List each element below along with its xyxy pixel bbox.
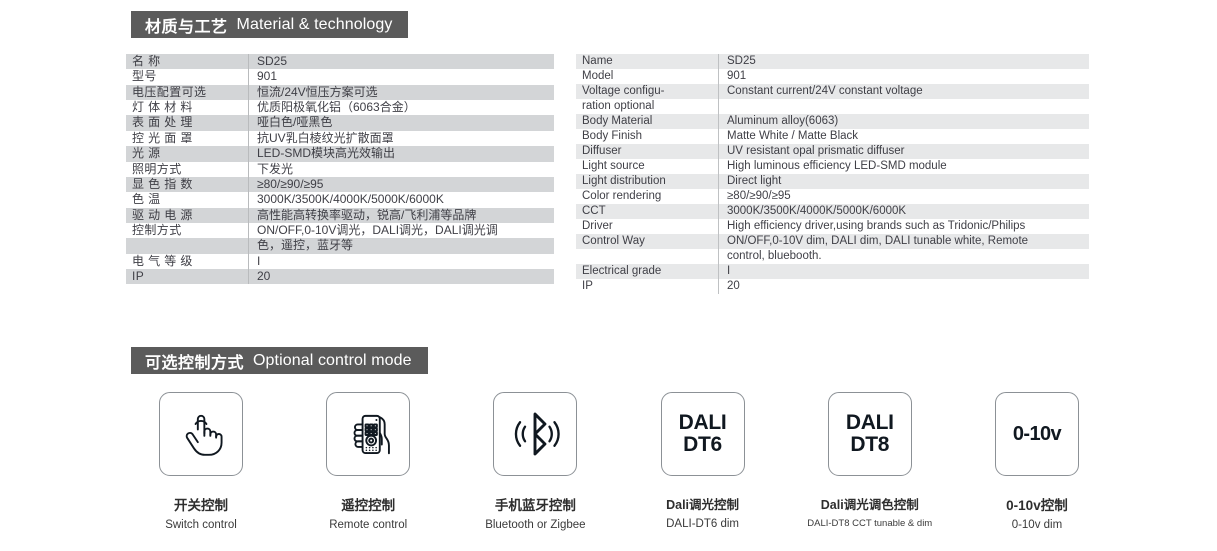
spec-value-cn: 优质阳极氧化铝（6063合金） [249,100,555,115]
table-row: 灯 体 材 料优质阳极氧化铝（6063合金） [126,100,554,115]
control-mode-icon-box[interactable] [159,392,243,476]
spec-key-cn [126,238,249,253]
spec-value-en [719,99,1090,114]
table-row: Model901 [576,69,1089,84]
section-header-material: 材质与工艺 Material & technology [131,11,408,38]
spec-value-cn: ON/OFF,0-10V调光，DALI调光，DALI调光调 [249,223,555,238]
spec-value-cn: SD25 [249,54,555,69]
spec-value-en: Aluminum alloy(6063) [719,114,1090,129]
spec-key-cn: 灯 体 材 料 [126,100,249,115]
table-row: 表 面 处 理哑白色/哑黑色 [126,115,554,130]
table-row: IP20 [576,279,1089,294]
control-mode-icon-box[interactable] [493,392,577,476]
section-header-control-mode: 可选控制方式 Optional control mode [131,347,428,374]
spec-value-en: ON/OFF,0-10V dim, DALI dim, DALI tunable… [719,234,1090,249]
spec-key-cn: 名 称 [126,54,249,69]
table-row: Body FinishMatte White / Matte Black [576,129,1089,144]
spec-key-en: Body Finish [576,129,719,144]
table-row: 电 气 等 级I [126,254,554,269]
spec-value-en: Direct light [719,174,1090,189]
control-mode-label-cn: Dali调光控制 [666,494,739,513]
section-header-material-title-en: Material & technology [237,16,393,34]
spec-key-cn: 型号 [126,69,249,84]
spec-value-cn: 20 [249,269,555,284]
spec-key-cn: 表 面 处 理 [126,115,249,130]
control-mode-label-cn: 0-10v控制 [1006,494,1068,514]
spec-key-cn: 驱 动 电 源 [126,208,249,223]
table-row: DiffuserUV resistant opal prismatic diff… [576,144,1089,159]
table-row: IP20 [126,269,554,284]
table-row: 型号901 [126,69,554,84]
table-row: Body MaterialAluminum alloy(6063) [576,114,1089,129]
icon-text-line-2: DT6 [679,434,727,456]
spec-key-en: Body Material [576,114,719,129]
table-row: Color rendering≥80/≥90/≥95 [576,189,1089,204]
icon-text-line-2: DT8 [846,434,894,456]
spec-key-cn: IP [126,269,249,284]
spec-key-en: IP [576,279,719,294]
spec-key-cn: 控 光 面 罩 [126,131,249,146]
spec-table-chinese: 名 称SD25型号901电压配置可选恒流/24V恒压方案可选灯 体 材 料优质阳… [126,54,554,284]
control-mode-card[interactable]: 手机蓝牙控制Bluetooth or Zigbee [460,392,610,531]
table-row: Control WayON/OFF,0-10V dim, DALI dim, D… [576,234,1089,249]
spec-value-en: control, bluebooth. [719,249,1090,264]
table-row: 照明方式下发光 [126,162,554,177]
table-row: 色 温3000K/3500K/4000K/5000K/6000K [126,192,554,207]
zero-to-ten-volt-text-icon: 0-10v [1013,424,1061,445]
control-mode-label-cn: Dali调光调色控制 [821,494,919,513]
table-row: 控 光 面 罩抗UV乳白棱纹光扩散面罩 [126,131,554,146]
spec-key-en [576,249,719,264]
spec-key-cn: 光 源 [126,146,249,161]
section-header-control-mode-title-cn: 可选控制方式 [145,349,244,373]
table-row: 电压配置可选恒流/24V恒压方案可选 [126,85,554,100]
spec-key-en: ration optional [576,99,719,114]
spec-value-en: High efficiency driver,using brands such… [719,219,1090,234]
control-mode-icon-box[interactable]: DALIDT6 [661,392,745,476]
spec-value-en: UV resistant opal prismatic diffuser [719,144,1090,159]
spec-table-chinese-body: 名 称SD25型号901电压配置可选恒流/24V恒压方案可选灯 体 材 料优质阳… [126,54,554,284]
table-row: 驱 动 电 源高性能高转换率驱动，锐高/飞利浦等品牌 [126,208,554,223]
table-row: Light sourceHigh luminous efficiency LED… [576,159,1089,174]
spec-value-cn: 901 [249,69,555,84]
spec-value-cn: ≥80/≥90/≥95 [249,177,555,192]
spec-value-cn: 3000K/3500K/4000K/5000K/6000K [249,192,555,207]
spec-key-en: Light source [576,159,719,174]
spec-key-cn: 显 色 指 数 [126,177,249,192]
bluetooth-signal-icon [506,405,564,463]
spec-value-en: I [719,264,1090,279]
spec-value-en: 20 [719,279,1090,294]
hand-tap-icon [172,405,230,463]
spec-value-cn: 哑白色/哑黑色 [249,115,555,130]
control-mode-label-en: 0-10v dim [1012,519,1063,531]
icon-text-line-1: DALI [846,412,894,434]
table-row: 光 源LED-SMD模块高光效输出 [126,146,554,161]
spec-key-cn: 电 气 等 级 [126,254,249,269]
control-mode-label-en: DALI-DT8 CCT tunable & dim [807,518,932,529]
spec-key-en: Diffuser [576,144,719,159]
section-header-material-title-cn: 材质与工艺 [145,13,228,37]
spec-value-cn: 恒流/24V恒压方案可选 [249,85,555,100]
control-mode-list: 开关控制Switch control遥控控制Remote control手机蓝牙… [126,392,1112,531]
spec-value-en: 3000K/3500K/4000K/5000K/6000K [719,204,1090,219]
spec-key-en: CCT [576,204,719,219]
table-row: 控制方式ON/OFF,0-10V调光，DALI调光，DALI调光调 [126,223,554,238]
spec-value-cn: I [249,254,555,269]
control-mode-label-cn: 开关控制 [174,494,228,514]
control-mode-icon-box[interactable] [326,392,410,476]
spec-table-english-body: NameSD25Model901Voltage configu-Constant… [576,54,1089,294]
spec-key-cn: 电压配置可选 [126,85,249,100]
control-mode-label-cn: 遥控控制 [341,494,395,514]
control-mode-card[interactable]: 遥控控制Remote control [293,392,443,531]
control-mode-card[interactable]: 0-10v0-10v控制0-10v dim [962,392,1112,531]
table-row: 名 称SD25 [126,54,554,69]
table-row: Electrical gradeI [576,264,1089,279]
section-header-control-mode-title-en: Optional control mode [253,352,412,370]
spec-value-en: High luminous efficiency LED-SMD module [719,159,1090,174]
spec-key-en: Model [576,69,719,84]
remote-control-icon [339,405,397,463]
spec-value-cn: LED-SMD模块高光效输出 [249,146,555,161]
control-mode-card[interactable]: 开关控制Switch control [126,392,276,531]
spec-value-en: SD25 [719,54,1090,69]
dali-dt8-text-icon: DALIDT8 [846,412,894,456]
table-row: ration optional [576,99,1089,114]
spec-value-cn: 下发光 [249,162,555,177]
control-mode-label-en: DALI-DT6 dim [666,518,739,530]
spec-key-cn: 照明方式 [126,162,249,177]
spec-value-en: Matte White / Matte Black [719,129,1090,144]
table-row: Light distributionDirect light [576,174,1089,189]
spec-value-cn: 高性能高转换率驱动，锐高/飞利浦等品牌 [249,208,555,223]
control-mode-label-en: Switch control [165,519,237,531]
table-row: DriverHigh efficiency driver,using brand… [576,219,1089,234]
control-mode-label-cn: 手机蓝牙控制 [495,494,576,514]
table-row: control, bluebooth. [576,249,1089,264]
spec-value-en: ≥80/≥90/≥95 [719,189,1090,204]
table-row: 显 色 指 数≥80/≥90/≥95 [126,177,554,192]
table-row: NameSD25 [576,54,1089,69]
spec-key-cn: 控制方式 [126,223,249,238]
table-row: CCT3000K/3500K/4000K/5000K/6000K [576,204,1089,219]
spec-key-en: Voltage configu- [576,84,719,99]
control-mode-card[interactable]: DALIDT8Dali调光调色控制DALI-DT8 CCT tunable & … [795,392,945,531]
control-mode-card[interactable]: DALIDT6Dali调光控制DALI-DT6 dim [628,392,778,531]
table-row: 色，遥控，蓝牙等 [126,238,554,253]
control-mode-icon-box[interactable]: 0-10v [995,392,1079,476]
spec-value-en: Constant current/24V constant voltage [719,84,1090,99]
spec-key-en: Light distribution [576,174,719,189]
dali-dt6-text-icon: DALIDT6 [679,412,727,456]
control-mode-label-en: Remote control [329,519,407,531]
icon-text-line-1: DALI [679,412,727,434]
spec-key-en: Driver [576,219,719,234]
control-mode-icon-box[interactable]: DALIDT8 [828,392,912,476]
spec-key-en: Electrical grade [576,264,719,279]
spec-key-cn: 色 温 [126,192,249,207]
spec-key-en: Control Way [576,234,719,249]
spec-value-cn: 色，遥控，蓝牙等 [249,238,555,253]
spec-table-english: NameSD25Model901Voltage configu-Constant… [576,54,1089,294]
control-mode-label-en: Bluetooth or Zigbee [485,519,585,531]
spec-value-cn: 抗UV乳白棱纹光扩散面罩 [249,131,555,146]
icon-text-line-1: 0-10v [1013,424,1061,445]
spec-key-en: Name [576,54,719,69]
spec-key-en: Color rendering [576,189,719,204]
spec-value-en: 901 [719,69,1090,84]
table-row: Voltage configu-Constant current/24V con… [576,84,1089,99]
